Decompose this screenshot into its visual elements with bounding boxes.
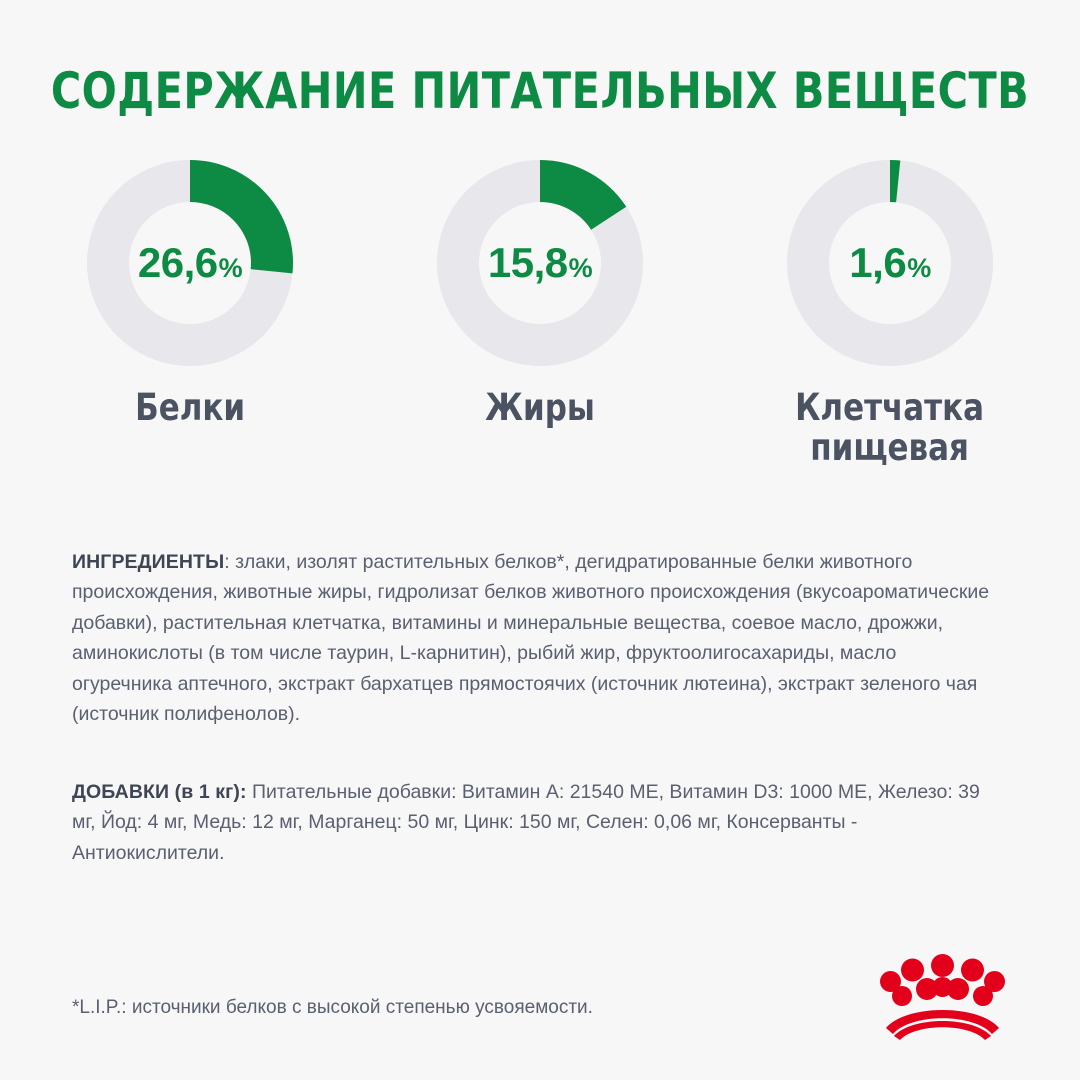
donut-cell-fibre: 1,6% Клетчатка пищевая bbox=[740, 160, 1040, 468]
page-title: СОДЕРЖАНИЕ ПИТАТЕЛЬНЫХ ВЕЩЕСТВ bbox=[43, 62, 1037, 120]
donut-chart-protein: 26,6% bbox=[87, 160, 293, 366]
ingredients-separator: : bbox=[224, 551, 235, 573]
additives-heading: ДОБАВКИ (в 1 кг): bbox=[72, 781, 247, 803]
royal-canin-crown-logo bbox=[880, 950, 1005, 1042]
donut-label-fibre: Клетчатка пищевая bbox=[796, 388, 985, 468]
donut-track bbox=[808, 181, 972, 345]
ingredients-heading: ИНГРЕДИЕНТЫ bbox=[72, 551, 224, 573]
donut-fibre-svg bbox=[787, 160, 993, 366]
donut-label-fat: Жиры bbox=[485, 388, 595, 428]
additives-paragraph: ДОБАВКИ (в 1 кг): Питательные добавки: В… bbox=[72, 777, 997, 869]
donut-label-protein: Белки bbox=[135, 388, 245, 428]
donut-protein-svg bbox=[87, 160, 293, 366]
donut-fat-svg bbox=[437, 160, 643, 366]
donut-cell-protein: 26,6% Белки bbox=[40, 160, 340, 428]
donut-chart-fat: 15,8% bbox=[437, 160, 643, 366]
nutrition-infographic: СОДЕРЖАНИЕ ПИТАТЕЛЬНЫХ ВЕЩЕСТВ 26,6% Бел… bbox=[0, 0, 1080, 1080]
ingredients-paragraph: ИНГРЕДИЕНТЫ: злаки, изолят растительных … bbox=[72, 547, 997, 730]
donut-chart-row: 26,6% Белки 15,8% Жиры bbox=[40, 160, 1040, 468]
footnote-lip: *L.I.P.: источники белков с высокой степ… bbox=[72, 995, 832, 1021]
donut-chart-fibre: 1,6% bbox=[787, 160, 993, 366]
ingredients-text: злаки, изолят растительных белков*, деги… bbox=[72, 551, 989, 726]
crown-icon bbox=[880, 950, 1005, 1042]
donut-cell-fat: 15,8% Жиры bbox=[390, 160, 690, 428]
